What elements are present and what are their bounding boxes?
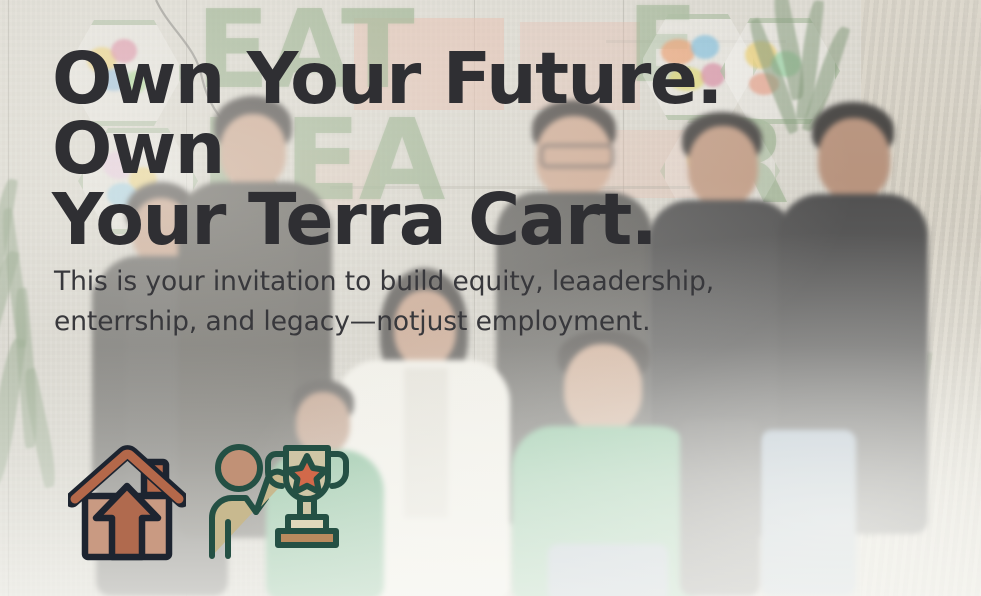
house-with-up-arrow-icon	[68, 440, 186, 562]
slide-canvas: EAT REA E R	[0, 0, 981, 596]
subheadline-line-1: This is your invitation to build equity,…	[54, 262, 814, 302]
headline-line-2: Your Terra Cart.	[52, 185, 912, 255]
slide-subheadline: This is your invitation to build equity,…	[54, 262, 814, 343]
headline-line-1: Own Your Future. Own	[52, 44, 912, 185]
person-holding-trophy-icon	[206, 434, 358, 566]
slide-headline: Own Your Future. Own Your Terra Cart.	[52, 44, 912, 255]
subheadline-line-2: enterrship, and legacy—notjust employmen…	[54, 302, 814, 342]
